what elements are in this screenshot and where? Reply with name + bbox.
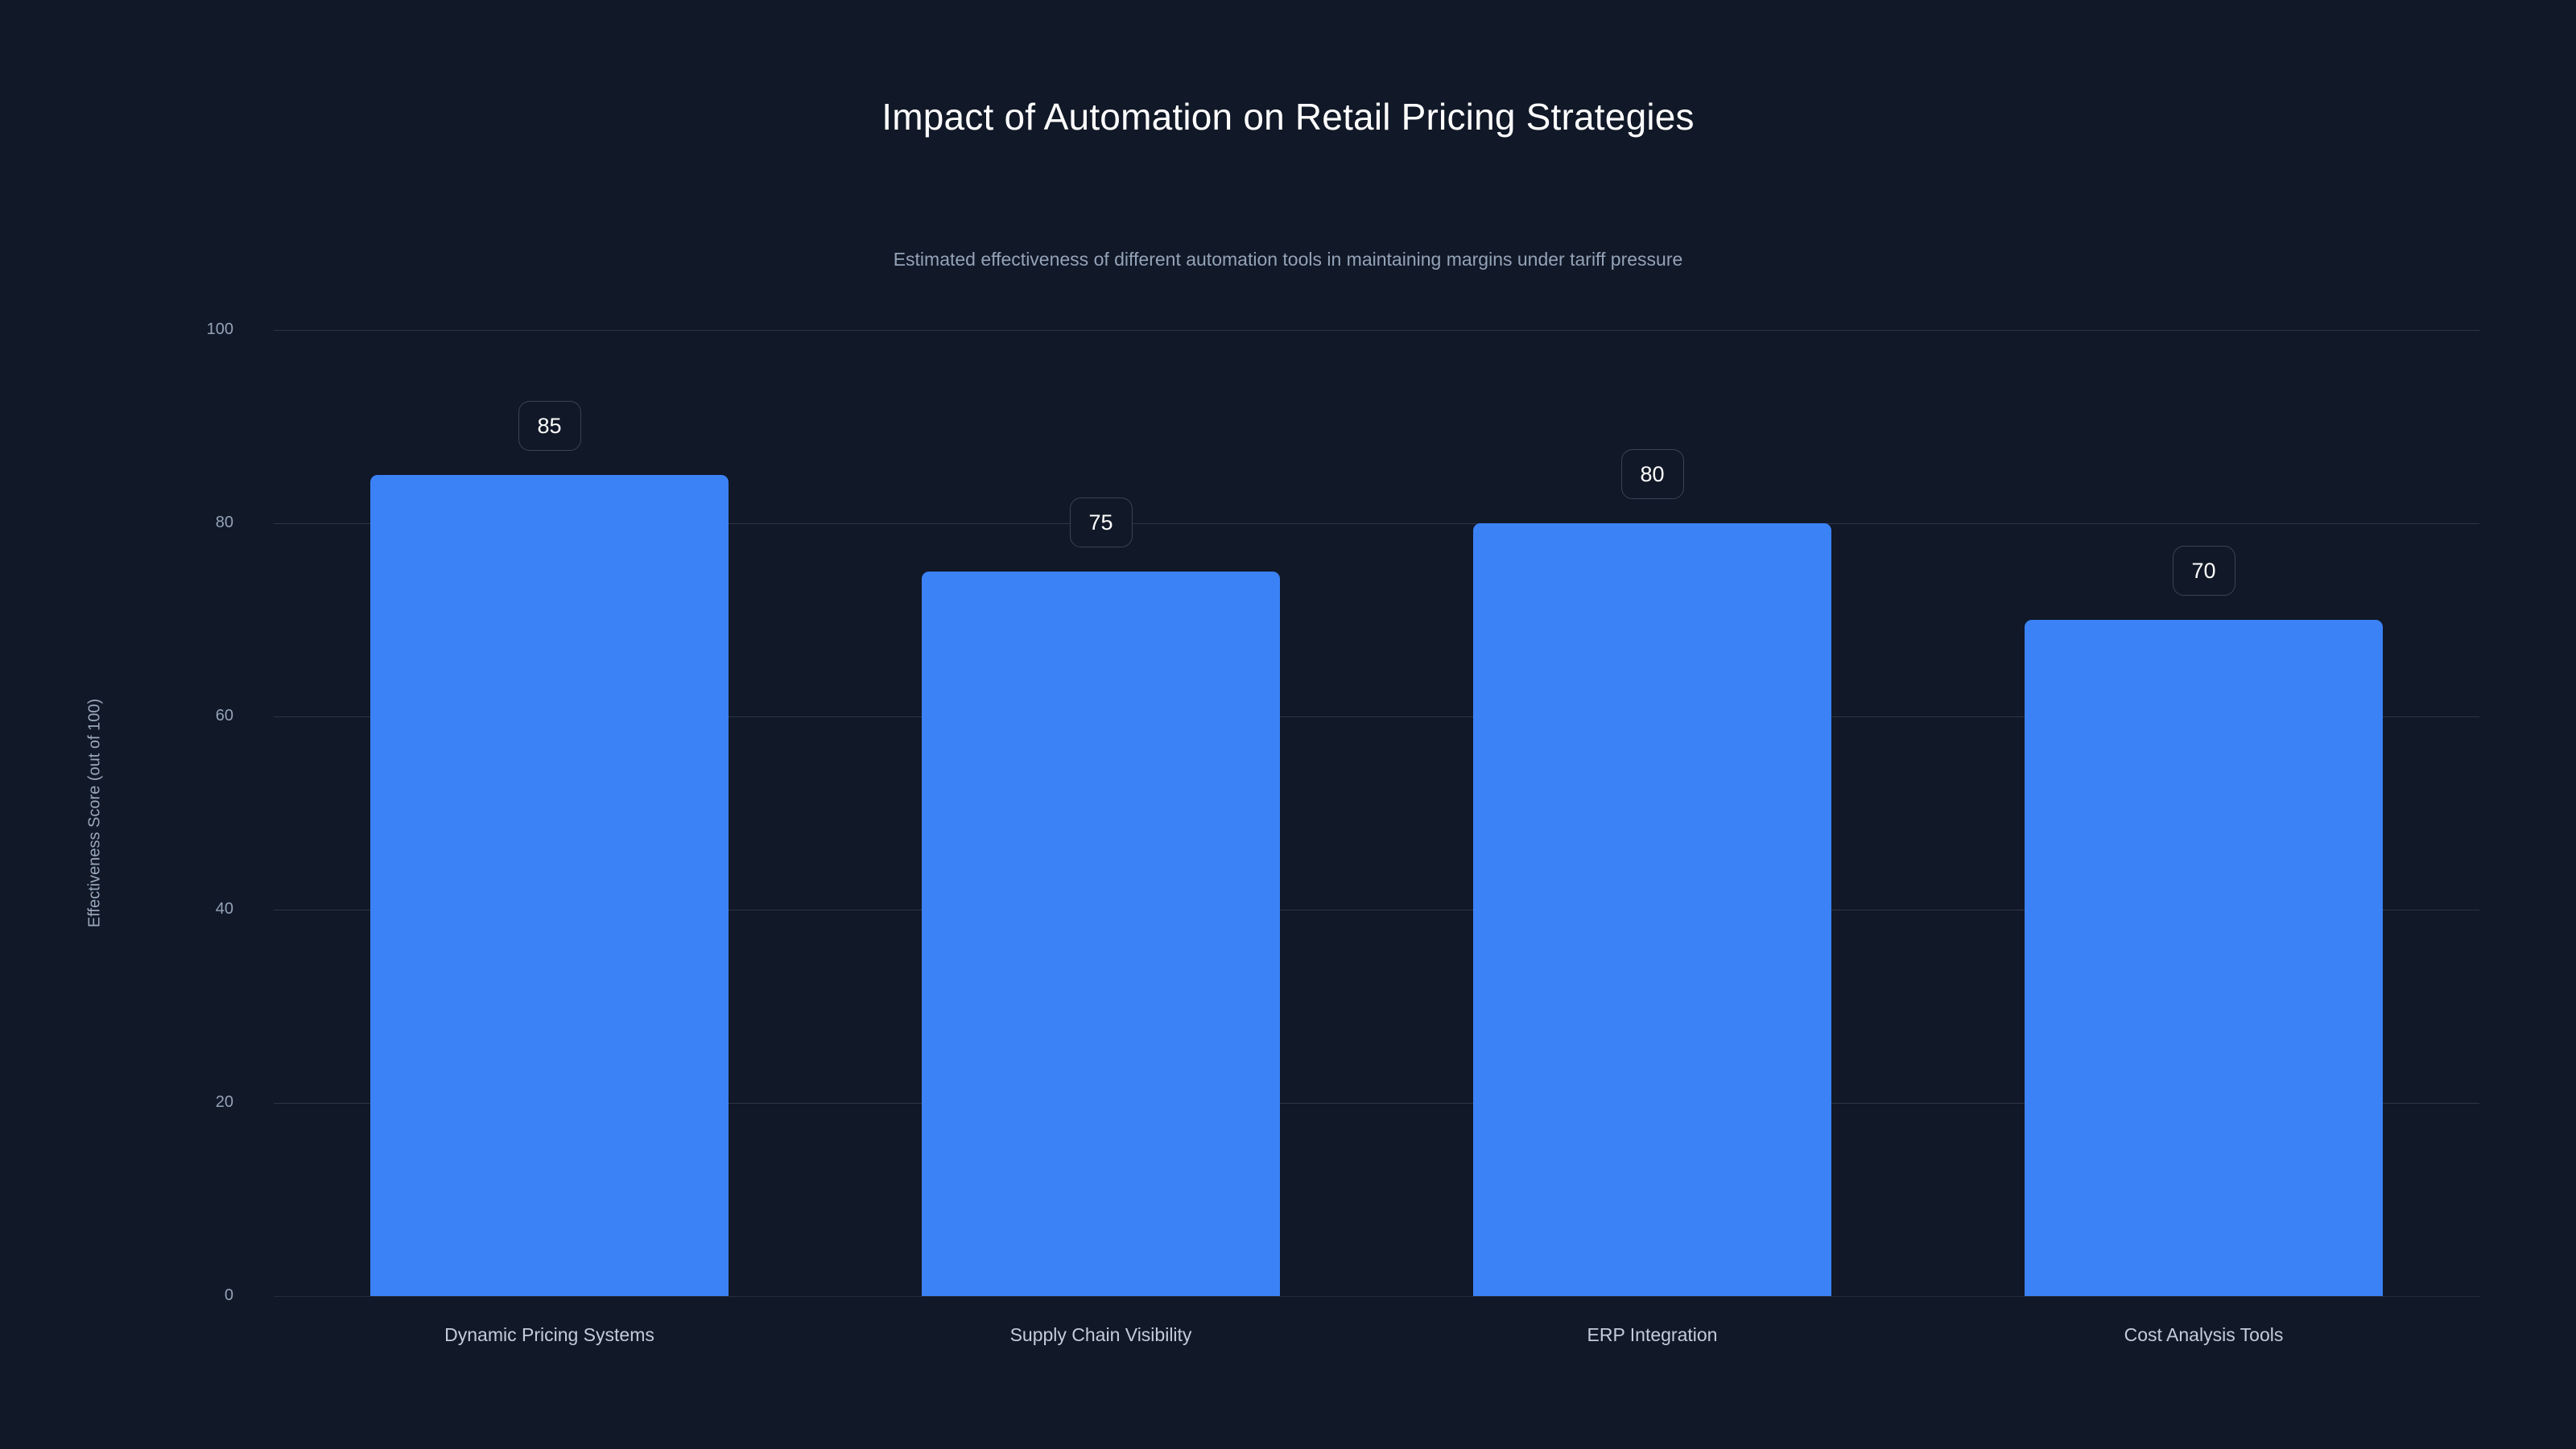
y-tick-label-60: 60 <box>137 707 233 725</box>
bar-value-label: 85 <box>518 401 581 451</box>
page-title: Impact of Automation on Retail Pricing S… <box>0 95 2576 138</box>
x-tick-label: Dynamic Pricing Systems <box>444 1324 654 1346</box>
bar[interactable] <box>1473 523 1831 1296</box>
y-tick-label-100: 100 <box>137 320 233 339</box>
bar-value-label: 80 <box>1621 449 1684 499</box>
gridline-100 <box>274 330 2479 331</box>
bar-value-label: 70 <box>2173 546 2235 596</box>
chart-canvas: Impact of Automation on Retail Pricing S… <box>0 0 2576 1449</box>
y-axis-label: Effectiveness Score (out of 100) <box>86 699 105 927</box>
bar[interactable] <box>922 572 1280 1296</box>
gridline-0 <box>274 1296 2479 1297</box>
x-tick-label: Cost Analysis Tools <box>2124 1324 2284 1346</box>
chart-subtitle: Estimated effectiveness of different aut… <box>0 249 2576 270</box>
plot-area <box>274 330 2479 1296</box>
y-tick-label-0: 0 <box>137 1286 233 1305</box>
bar-value-label: 75 <box>1070 497 1133 547</box>
y-tick-label-40: 40 <box>137 900 233 919</box>
y-tick-label-80: 80 <box>137 514 233 532</box>
bar[interactable] <box>2025 620 2383 1296</box>
bar[interactable] <box>370 475 729 1296</box>
x-tick-label: ERP Integration <box>1587 1324 1718 1346</box>
y-tick-label-20: 20 <box>137 1093 233 1112</box>
x-tick-label: Supply Chain Visibility <box>1010 1324 1192 1346</box>
